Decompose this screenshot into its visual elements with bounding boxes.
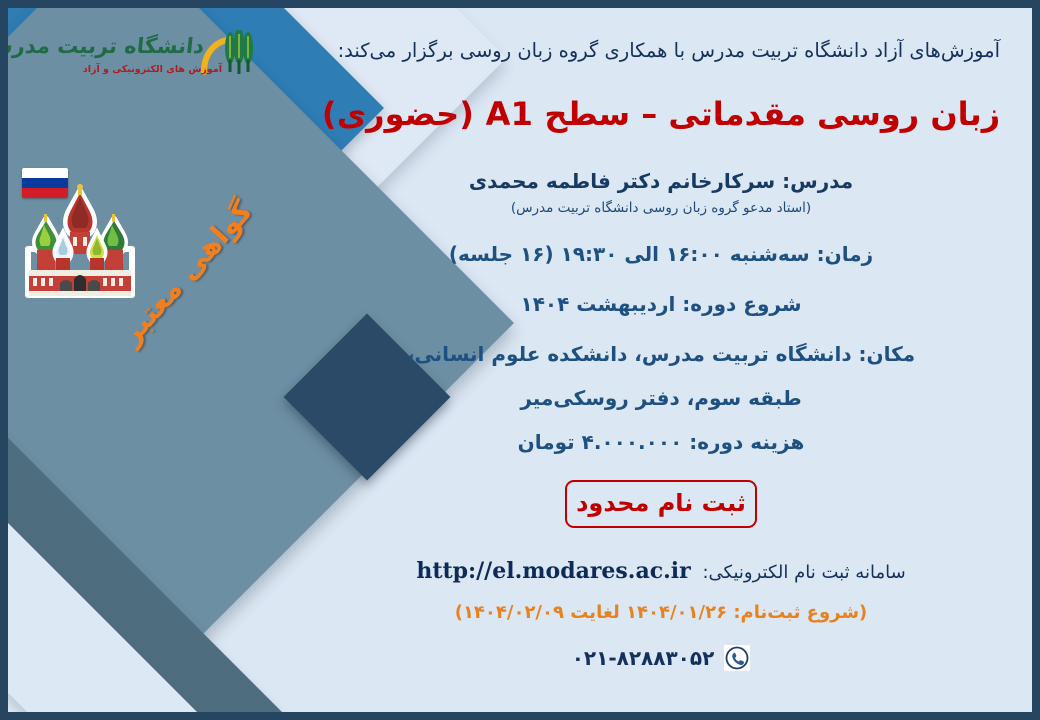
detail-start-date: شروع دوره: اردیبهشت ۱۴۰۴ (316, 292, 1006, 316)
course-title: زبان روسی مقدماتی – سطح A1 (حضوری) (316, 95, 1006, 133)
limited-registration-badge: ثبت نام محدود (565, 480, 757, 528)
poster-content: آموزش‌های آزاد دانشگاه تربیت مدرس با همک… (316, 22, 1006, 671)
contact-phone-row: ۰۲۱-۸۲۸۸۳۰۵۲ (316, 645, 1006, 671)
instructor-affiliation: (استاد مدعو گروه زبان روسی دانشگاه تربیت… (316, 200, 1006, 216)
detail-location: مکان: دانشگاه تربیت مدرس، دانشکده علوم ا… (316, 342, 1006, 366)
university-logo: دانشگاه تربیت مدرس آموزش های الکترونیکی … (46, 30, 266, 92)
detail-location-2: طبقه سوم، دفتر روسکی‌میر (316, 386, 1006, 410)
registration-url-label: سامانه ثبت نام الکترونیکی: (702, 562, 905, 583)
telephone-icon (724, 645, 750, 671)
intro-text: آموزش‌های آزاد دانشگاه تربیت مدرس با همک… (316, 36, 1006, 65)
poster-canvas: دانشگاه تربیت مدرس آموزش های الکترونیکی … (8, 8, 1032, 712)
contact-phone-number: ۰۲۱-۸۲۸۸۳۰۵۲ (572, 646, 715, 670)
logo-wordmark: دانشگاه تربیت مدرس (8, 34, 205, 58)
registration-dates: (شروع ثبت‌نام: ۱۴۰۴/۰۱/۲۶ لغایت ۱۴۰۴/۰۲/… (316, 602, 1006, 623)
detail-schedule: زمان: سه‌شنبه ۱۶:۰۰ الی ۱۹:۳۰ (۱۶ جلسه) (316, 242, 1006, 266)
instructor-name: مدرس: سرکارخانم دکتر فاطمه محمدی (316, 169, 1006, 193)
detail-fee: هزینه دوره: ۴.۰۰۰.۰۰۰ تومان (316, 430, 1006, 454)
logo-subtitle: آموزش های الکترونیکی و آزاد (83, 64, 222, 75)
saint-basils-cathedral-icon (16, 183, 144, 303)
registration-url-row: سامانه ثبت نام الکترونیکی: http://el.mod… (316, 558, 1006, 584)
course-poster: دانشگاه تربیت مدرس آموزش های الکترونیکی … (0, 0, 1040, 720)
registration-url-link[interactable]: http://el.modares.ac.ir (416, 558, 690, 584)
